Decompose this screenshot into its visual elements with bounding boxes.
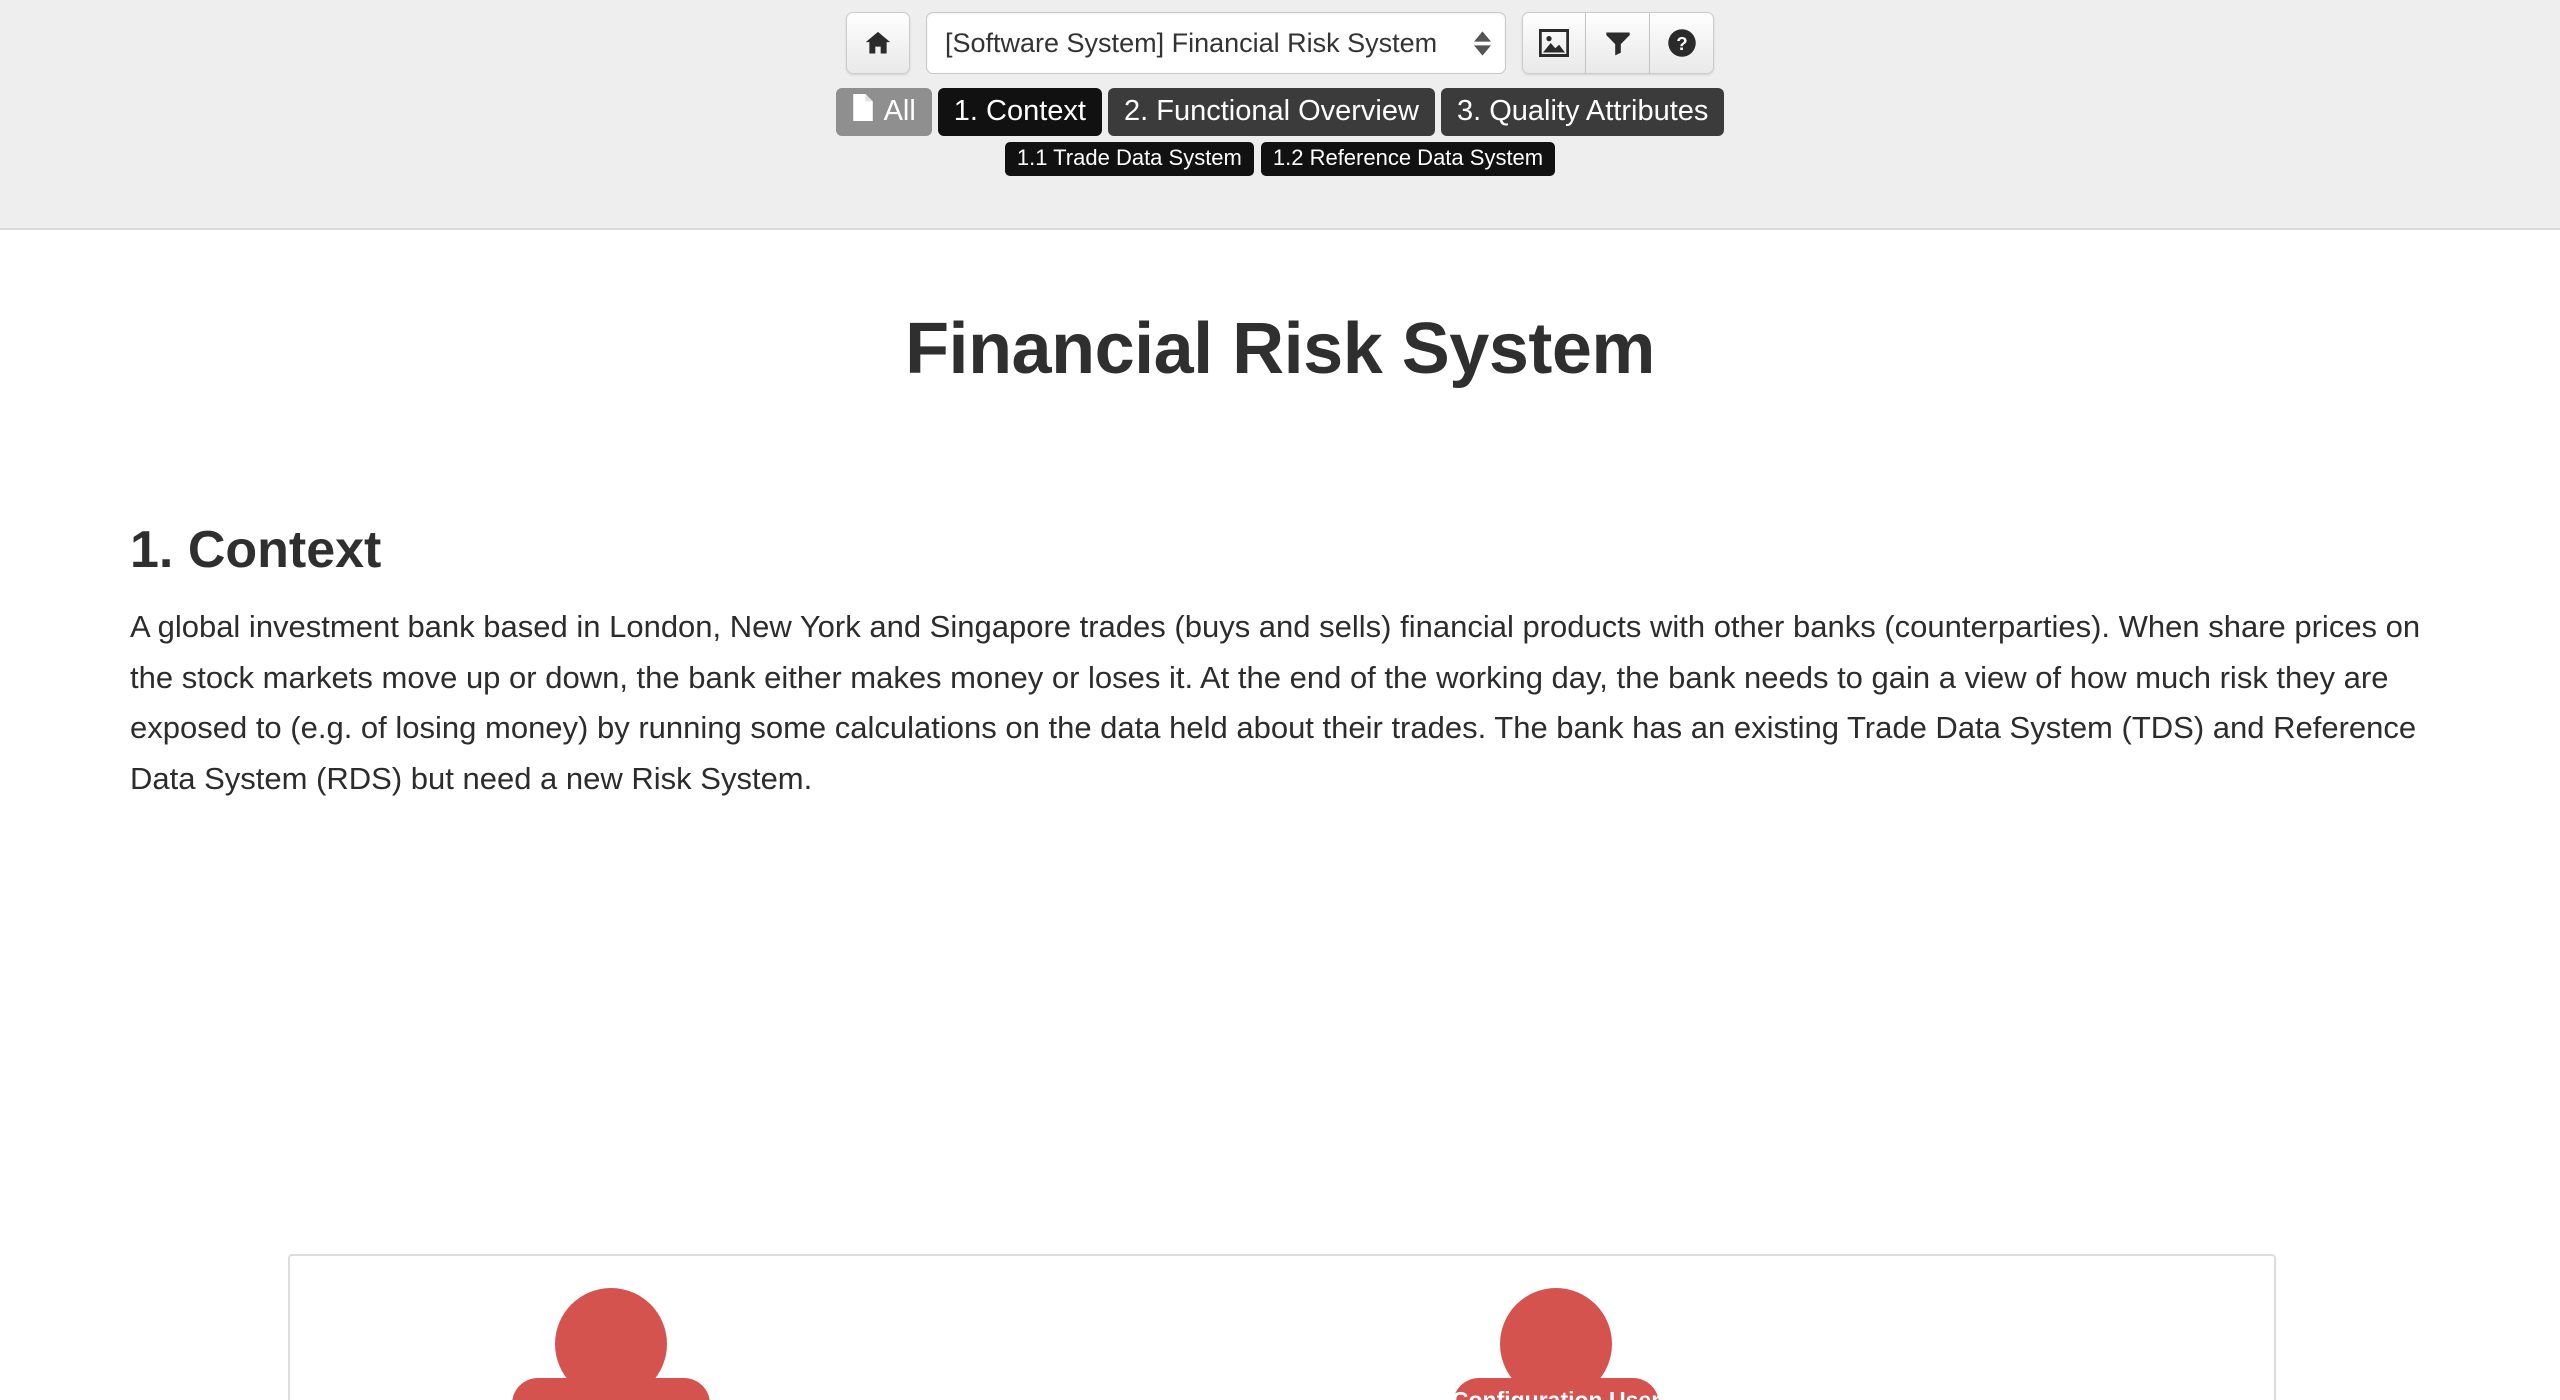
- filter-button[interactable]: [1586, 12, 1650, 74]
- tab-reference-data-system[interactable]: 1.2 Reference Data System: [1261, 142, 1555, 175]
- tab-context-label: 1. Context: [954, 96, 1086, 126]
- tab-all[interactable]: All: [836, 88, 932, 136]
- view-select-wrapper: [Software System] Financial Risk System: [926, 12, 1506, 74]
- home-button-group: [846, 12, 910, 74]
- filter-icon: [1604, 29, 1632, 57]
- tab-quality-attributes-label: 3. Quality Attributes: [1457, 96, 1708, 126]
- tab-context[interactable]: 1. Context: [938, 88, 1102, 136]
- header-bar: [Software System] Financial Risk System: [0, 0, 2560, 230]
- tab-trade-data-system-label: 1.1 Trade Data System: [1017, 146, 1242, 169]
- tab-functional-overview[interactable]: 2. Functional Overview: [1108, 88, 1435, 136]
- tab-functional-overview-label: 2. Functional Overview: [1124, 96, 1419, 126]
- help-button[interactable]: ?: [1650, 12, 1714, 74]
- node-business-user[interactable]: Business User [Person] A regular busines…: [510, 1288, 713, 1400]
- page-title: Financial Risk System: [0, 308, 2560, 390]
- context-diagram[interactable]: Business User [Person] A regular busines…: [288, 1254, 2276, 1400]
- diagram-canvas: Business User [Person] A regular busines…: [290, 1256, 2274, 1400]
- help-icon: ?: [1667, 28, 1697, 58]
- tab-all-label: All: [884, 96, 916, 126]
- view-select-value: [Software System] Financial Risk System: [945, 28, 1464, 59]
- section-heading: 1. Context: [130, 520, 2560, 580]
- secondary-tab-bar: 1.1 Trade Data System 1.2 Reference Data…: [0, 142, 2560, 175]
- node-configuration-user[interactable]: Configuration User [Person] A regular bu…: [1434, 1288, 1678, 1400]
- home-button[interactable]: [846, 12, 910, 74]
- toolbar: [Software System] Financial Risk System: [0, 0, 2560, 74]
- tab-reference-data-system-label: 1.2 Reference Data System: [1273, 146, 1543, 169]
- image-icon: [1539, 29, 1569, 57]
- tab-quality-attributes[interactable]: 3. Quality Attributes: [1441, 88, 1724, 136]
- select-stepper-icon: [1474, 31, 1491, 56]
- file-icon: [852, 94, 874, 127]
- action-button-group: ?: [1522, 12, 1714, 74]
- node-configuration-user-title: Configuration User: [1452, 1387, 1660, 1400]
- document-content: Financial Risk System 1. Context A globa…: [0, 308, 2560, 804]
- svg-text:?: ?: [1676, 33, 1687, 54]
- primary-tab-bar: All 1. Context 2. Functional Overview 3.…: [0, 88, 2560, 136]
- image-button[interactable]: [1522, 12, 1586, 74]
- view-select[interactable]: [Software System] Financial Risk System: [926, 12, 1506, 74]
- tab-trade-data-system[interactable]: 1.1 Trade Data System: [1005, 142, 1254, 175]
- home-icon: [863, 29, 893, 57]
- section-body-text: A global investment bank based in London…: [130, 602, 2430, 804]
